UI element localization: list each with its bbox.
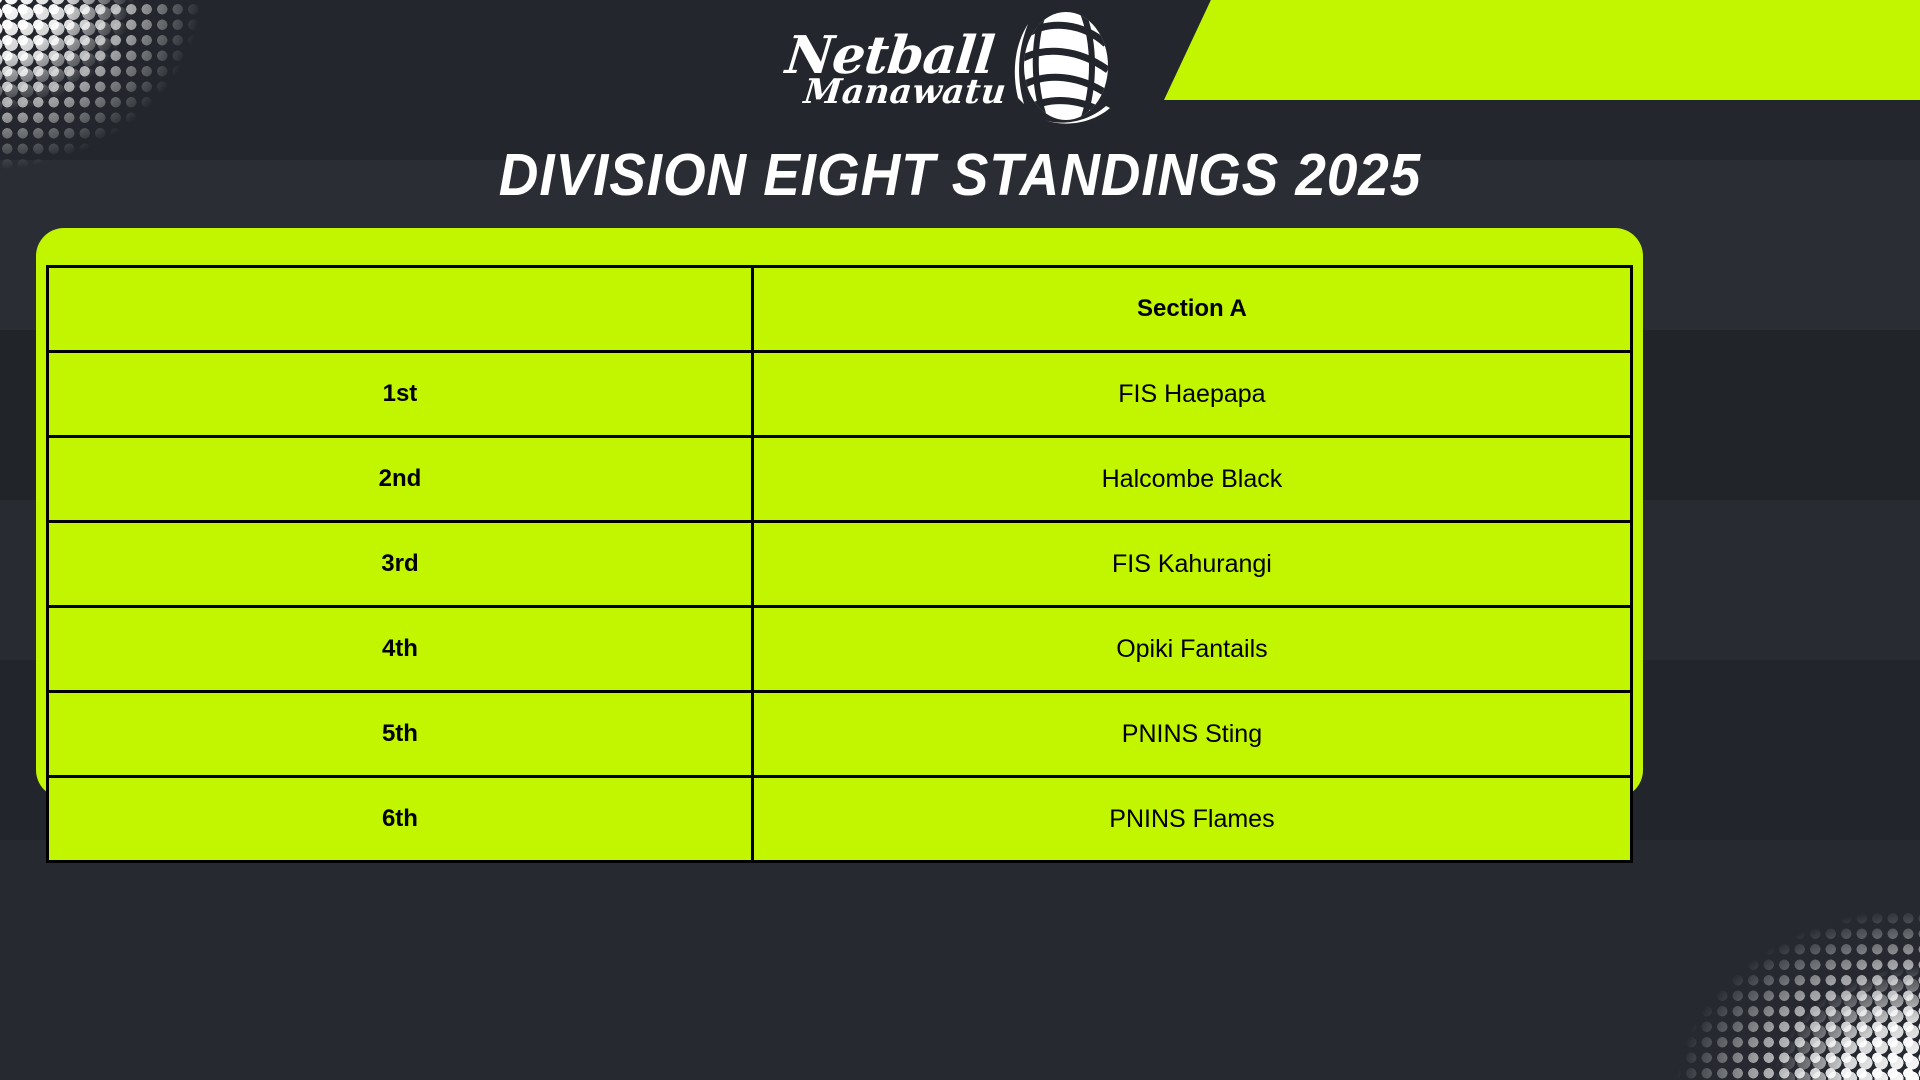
cell-team: PNINS Sting [752,692,1631,777]
page-title: DIVISION EIGHT STANDINGS 2025 [67,141,1853,209]
table-row: 2nd Halcombe Black [48,437,1632,522]
column-header-section-a: Section A [752,267,1631,352]
cell-team: FIS Haepapa [752,352,1631,437]
cell-position: 6th [48,777,753,862]
cell-position: 5th [48,692,753,777]
brand-logo: Netball Manawatu [0,8,1920,133]
table-row: 6th PNINS Flames [48,777,1632,862]
cell-team: PNINS Flames [752,777,1631,862]
cell-team: FIS Kahurangi [752,522,1631,607]
table-header-row: Section A [48,267,1632,352]
column-header-position [48,267,753,352]
table-row: 5th PNINS Sting [48,692,1632,777]
cell-team: Halcombe Black [752,437,1631,522]
logo-text-manawatu: Manawatu [802,78,1007,107]
standings-card: Section A 1st FIS Haepapa 2nd Halcombe B… [36,228,1643,798]
netball-ball-icon [1010,10,1118,133]
cell-team: Opiki Fantails [752,607,1631,692]
cell-position: 1st [48,352,753,437]
cell-position: 2nd [48,437,753,522]
table-row: 3rd FIS Kahurangi [48,522,1632,607]
standings-table: Section A 1st FIS Haepapa 2nd Halcombe B… [46,265,1633,863]
cell-position: 4th [48,607,753,692]
table-body: 1st FIS Haepapa 2nd Halcombe Black 3rd F… [48,352,1632,862]
table-row: 1st FIS Haepapa [48,352,1632,437]
table-row: 4th Opiki Fantails [48,607,1632,692]
cell-position: 3rd [48,522,753,607]
table-header: Section A [48,267,1632,352]
